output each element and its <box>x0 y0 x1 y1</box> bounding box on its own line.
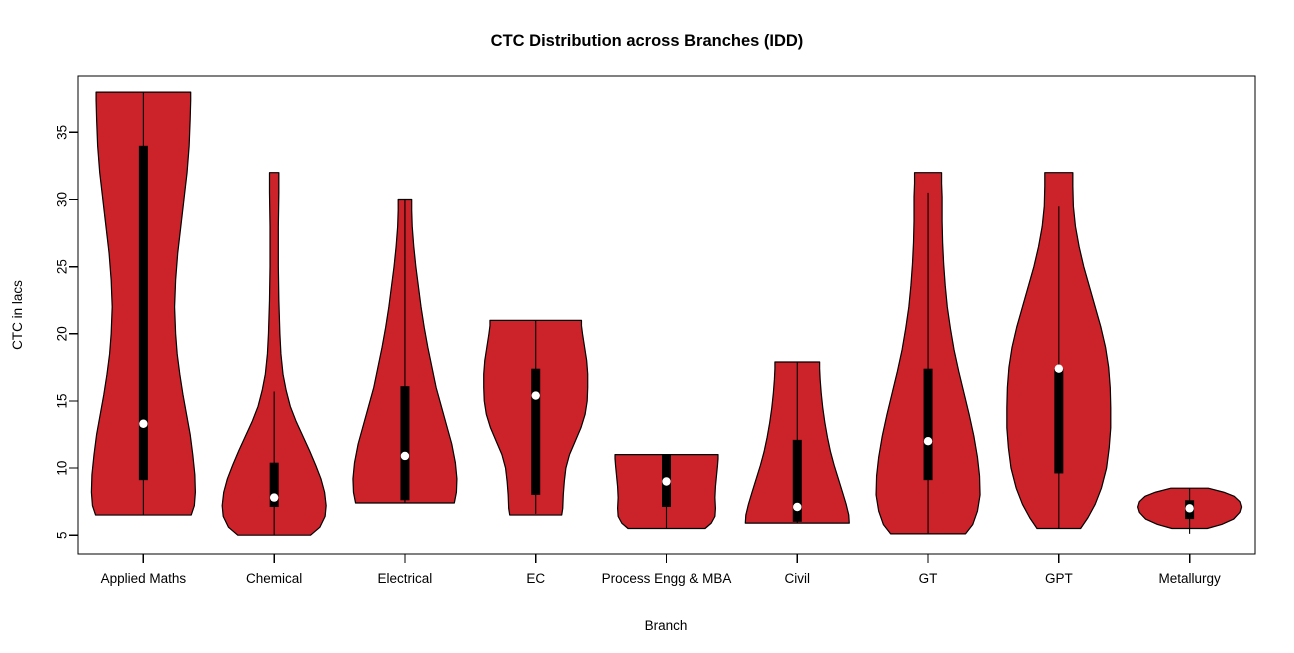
median-point <box>793 503 801 511</box>
y-axis-title: CTC in lacs <box>10 280 25 350</box>
violin-plot-figure: CTC Distribution across Branches (IDD) C… <box>0 0 1294 653</box>
iqr-box <box>531 369 540 495</box>
x-tick-label-metallurgy: Metallurgy <box>1158 571 1221 586</box>
median-point <box>1055 365 1063 373</box>
x-tick-label-ec: EC <box>526 571 545 586</box>
median-point <box>662 477 670 485</box>
iqr-box <box>1054 369 1063 474</box>
x-axis-title: Branch <box>645 618 688 633</box>
median-point <box>532 391 540 399</box>
median-point <box>139 420 147 428</box>
x-tick-label-chemical: Chemical <box>246 571 302 586</box>
iqr-box <box>400 386 409 500</box>
median-point <box>401 452 409 460</box>
median-point <box>270 493 278 501</box>
y-tick-label: 20 <box>55 326 70 341</box>
median-point <box>924 437 932 445</box>
x-tick-label-electrical: Electrical <box>378 571 433 586</box>
iqr-box <box>924 369 933 480</box>
y-tick-label: 10 <box>55 461 70 476</box>
violin-process-engg-mba[interactable] <box>615 455 718 529</box>
x-tick-label-gpt: GPT <box>1045 571 1073 586</box>
x-tick-label-applied-maths: Applied Maths <box>101 571 187 586</box>
x-tick-label-civil: Civil <box>785 571 811 586</box>
y-tick-label: 35 <box>55 125 70 140</box>
chart-title: CTC Distribution across Branches (IDD) <box>491 32 804 50</box>
y-tick-label: 30 <box>55 192 70 207</box>
y-tick-label: 25 <box>55 259 70 274</box>
median-point <box>1185 504 1193 512</box>
y-tick-label: 5 <box>55 531 70 539</box>
y-tick-label: 15 <box>55 393 70 408</box>
chart-canvas: CTC Distribution across Branches (IDD) C… <box>0 0 1294 653</box>
x-tick-label-gt: GT <box>919 571 938 586</box>
x-tick-label-process-engg-mba: Process Engg & MBA <box>602 571 732 586</box>
iqr-box <box>139 146 148 480</box>
